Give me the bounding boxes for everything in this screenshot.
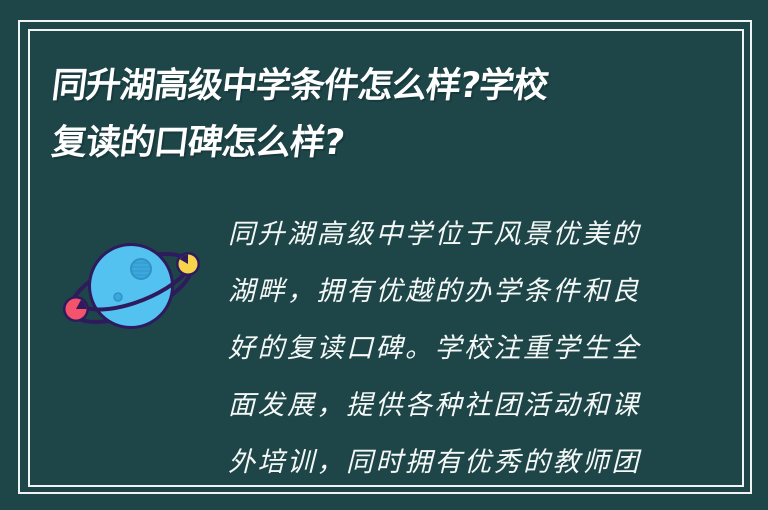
planet-speck — [114, 293, 122, 301]
poster-canvas: 同升湖高级中学条件怎么样?学校 复读的口碑怎么样? — [0, 0, 768, 510]
article-line-1: 同升湖高级中学位于风景优美的 — [228, 206, 654, 263]
planet-sphere — [88, 243, 174, 329]
title-line-2: 复读的口碑怎么样? — [49, 115, 656, 172]
page-title: 同升湖高级中学条件怎么样?学校 复读的口碑怎么样? — [52, 58, 652, 172]
title-line-1: 同升湖高级中学条件怎么样?学校 — [49, 58, 656, 115]
planet-illustration — [56, 226, 206, 346]
moon-yellow — [176, 252, 200, 276]
article-line-3: 好的复读口碑。学校注重学生全 — [228, 320, 654, 377]
article-line-5: 外培训，同时拥有优秀的教师团 — [228, 434, 654, 491]
article-body: 同升湖高级中学位于风景优美的 湖畔，拥有优越的办学条件和良 好的复读口碑。学校注… — [228, 206, 654, 491]
moon-pink — [63, 296, 89, 322]
article-line-2: 湖畔，拥有优越的办学条件和良 — [228, 263, 654, 320]
planet-crater — [131, 259, 151, 279]
article-line-4: 面发展，提供各种社团活动和课 — [228, 377, 654, 434]
